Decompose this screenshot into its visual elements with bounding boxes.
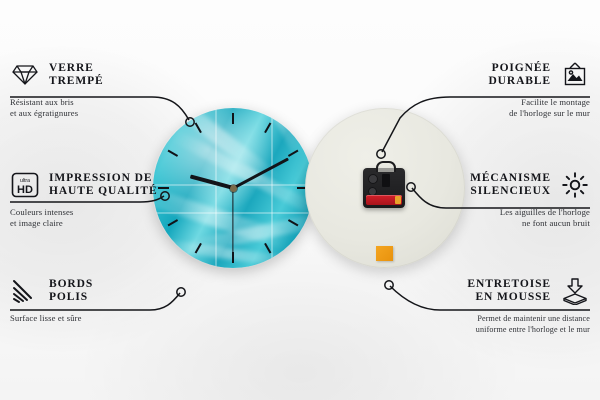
- feature-mecanisme-silencieux: MÉCANISME SILENCIEUX Les aiguilles de l'…: [400, 168, 590, 229]
- diamond-icon: [10, 60, 40, 90]
- feature-header: POIGNÉE DURABLE: [400, 58, 590, 92]
- ultra-hd-big-label: HD: [17, 184, 33, 196]
- mechanism-dial: [368, 174, 378, 184]
- gear-icon: [560, 170, 590, 200]
- feature-subtitle: Résistant aux bris et aux égratignures: [10, 97, 200, 119]
- ultra-hd-icon: ultra HD: [10, 170, 40, 200]
- feature-subtitle: Facilite le montage de l'horloge sur le …: [400, 97, 590, 119]
- feature-title: MÉCANISME SILENCIEUX: [470, 172, 551, 198]
- polished-edges-icon: [10, 276, 40, 306]
- hand-cap: [230, 185, 237, 192]
- mechanism-slot: [382, 174, 390, 187]
- feature-bords-polis: BORDS POLIS Surface lisse et sûre: [10, 274, 200, 324]
- clock-tick: [232, 110, 234, 188]
- feature-title: ENTRETOISE EN MOUSSE: [467, 278, 551, 304]
- feature-title: POIGNÉE DURABLE: [488, 62, 551, 88]
- feature-header: VERRE TREMPÉ: [10, 58, 200, 92]
- feature-impression-haute-qualite: ultra HD IMPRESSION DE HAUTE QUALITÉ Cou…: [10, 168, 200, 229]
- hanging-picture-icon: [560, 60, 590, 90]
- feature-title: BORDS POLIS: [49, 278, 93, 304]
- quartz-mechanism: [363, 168, 405, 208]
- infographic-canvas: VERRE TREMPÉ Résistant aux bris et aux é…: [0, 0, 600, 400]
- feature-poignee-durable: POIGNÉE DURABLE Facilite le montage de l…: [400, 58, 590, 119]
- battery: [366, 195, 402, 205]
- feature-title: IMPRESSION DE HAUTE QUALITÉ: [49, 172, 158, 198]
- feature-subtitle: Permet de maintenir une distance uniform…: [400, 313, 590, 335]
- feature-subtitle: Les aiguilles de l'horloge ne font aucun…: [400, 207, 590, 229]
- feature-header: ENTRETOISE EN MOUSSE: [400, 274, 590, 308]
- feature-title: VERRE TREMPÉ: [49, 62, 104, 88]
- connector-dot-6: [385, 281, 393, 289]
- foam-spacer: [376, 246, 393, 261]
- feature-header: MÉCANISME SILENCIEUX: [400, 168, 590, 202]
- feature-header: ultra HD IMPRESSION DE HAUTE QUALITÉ: [10, 168, 200, 202]
- feature-subtitle: Surface lisse et sûre: [10, 313, 200, 324]
- clock-tick: [233, 187, 311, 189]
- foam-spacer-icon: [560, 276, 590, 306]
- hanging-tab: [376, 161, 396, 172]
- feature-entretoise-en-mousse: ENTRETOISE EN MOUSSE Permet de maintenir…: [400, 274, 590, 335]
- feature-subtitle: Couleurs intenses et image claire: [10, 207, 200, 229]
- feature-verre-trempe: VERRE TREMPÉ Résistant aux bris et aux é…: [10, 58, 200, 119]
- feature-header: BORDS POLIS: [10, 274, 200, 308]
